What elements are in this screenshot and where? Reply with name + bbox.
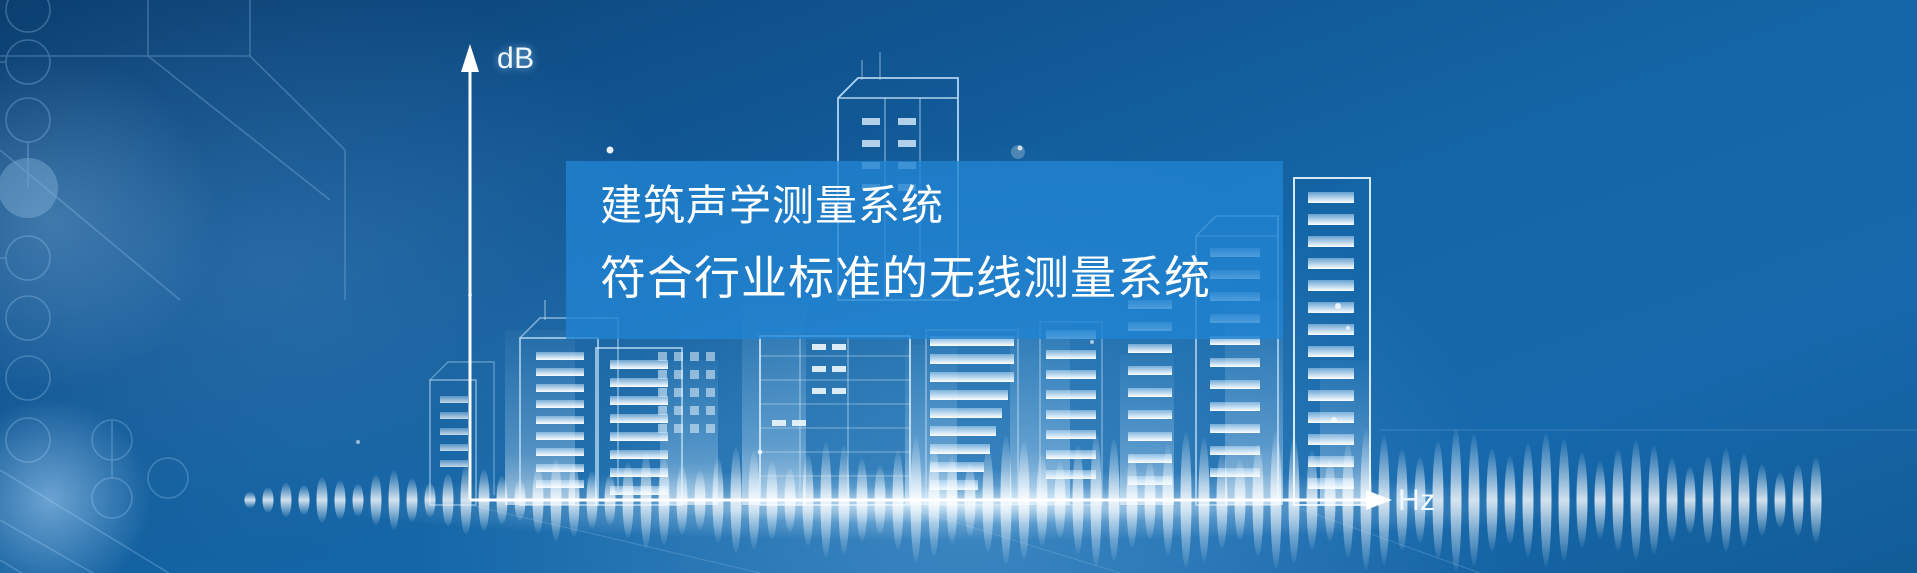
building-far-left (430, 362, 494, 505)
y-axis-label: dB (497, 42, 535, 76)
x-axis-label: Hz (1398, 484, 1436, 518)
headline-secondary: 符合行业标准的无线测量系统 (600, 255, 1211, 301)
acoustic-measurement-banner: dB Hz 建筑声学测量系统 符合行业标准的无线测量系统 (0, 0, 1917, 573)
headline-primary: 建筑声学测量系统 (600, 185, 944, 227)
headline-panel: 建筑声学测量系统 符合行业标准的无线测量系统 (566, 161, 1283, 339)
